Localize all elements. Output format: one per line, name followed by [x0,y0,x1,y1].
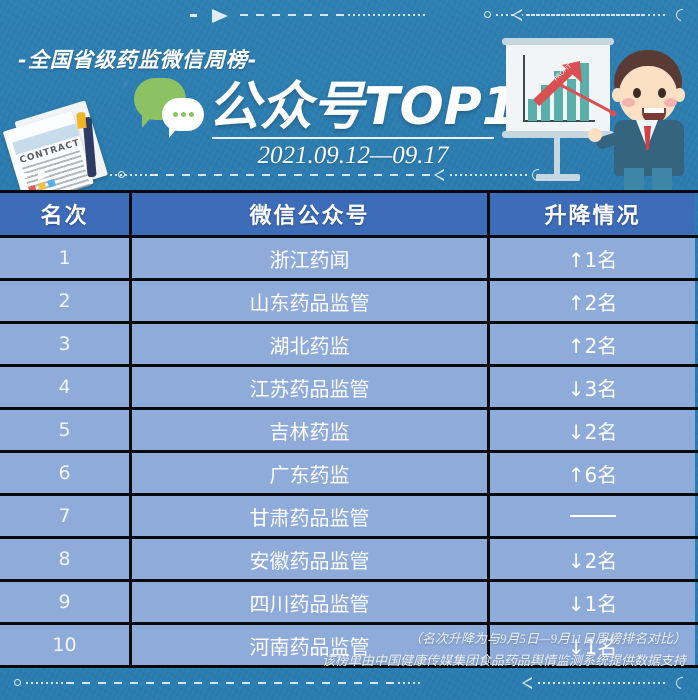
circle-marker-icon [14,679,21,686]
dotted-segment-3 [528,14,668,16]
character-cheek-left [622,98,635,107]
character-eye-right [658,88,666,98]
table-row[interactable]: 4 江苏药品监管 ↓3名 [0,367,698,410]
cell-rank: 7 [0,496,132,536]
swirl-icon [674,675,691,692]
footer-note: （名次升降为与9月5日—9月11日周榜排名对比） [409,628,686,647]
ranking-table: 名次 微信公众号 升降情况 1 浙江药闻 ↑1名 2 山东药品监管 ↑2名 3 … [0,190,698,668]
cell-change: ↓2名 [490,539,695,579]
flat-dash-icon [570,515,616,518]
cell-account: 浙江药闻 [132,238,490,278]
dashed-segment [150,174,430,176]
character-cheek-right [664,98,677,107]
dashed-segment [66,682,396,684]
cell-change: ↑6名 [490,453,695,493]
cell-rank: 3 [0,324,132,364]
chat-bubble-icon [134,78,208,136]
banner-subtitle: -全国省级药监微信周榜- [18,44,257,74]
circle-marker-icon [484,11,491,18]
hollow-triangle-left-icon [522,677,532,689]
title-row: 公众号TOP10 [134,78,554,136]
play-triangle-icon [212,9,228,23]
bottom-decoration-line [0,676,698,690]
cell-account: 甘肃药品监管 [132,496,490,536]
header-banner: -全国省级药监微信周榜- 公众号TOP10 2021.09.12—09.17 C… [0,0,698,190]
hollow-triangle-left-icon [512,9,522,21]
table-row[interactable]: 5 吉林药监 ↓2名 [0,410,698,453]
board-base [536,174,580,181]
table-row[interactable]: 7 甘肃药品监管 [0,496,698,539]
cell-account: 吉林药监 [132,410,490,450]
table-row[interactable]: 6 广东药监 ↑6名 [0,453,698,496]
title-underline [212,137,494,139]
cell-rank: 6 [0,453,132,493]
footer-source: 该榜单由中国健康传媒集团食品药品舆情监测系统提供数据支持 [322,650,686,669]
bubble-dot-icon [173,112,178,117]
cell-account: 安徽药品监管 [132,539,490,579]
table-row[interactable]: 1 浙江药闻 ↑1名 [0,238,698,281]
presenter-character-illustration [600,50,698,190]
cell-rank: 9 [0,582,132,622]
date-range: 2021.09.12—09.17 [212,142,494,170]
cell-account: 山东药品监管 [132,281,490,321]
dash-tick-icon [190,14,197,17]
top-decoration-line [0,8,698,22]
dotted-segment [348,14,426,16]
footer: （名次升降为与9月5日—9月11日周榜排名对比） 该榜单由中国健康传媒集团食品药… [0,620,698,700]
table-row[interactable]: 9 四川药品监管 ↓1名 [0,582,698,625]
table-row[interactable]: 2 山东药品监管 ↑2名 [0,281,698,324]
character-hand [588,128,602,142]
cell-rank: 5 [0,410,132,450]
dashed-segment [240,14,345,16]
board-top-bar [502,38,614,45]
presentation-board-illustration: PROFIT [502,38,614,188]
cell-account: 广东药监 [132,453,490,493]
table-row[interactable]: 3 湖北药监 ↑2名 [0,324,698,367]
cell-change: ↓1名 [490,582,695,622]
dotted-segment [398,682,420,684]
poster-canvas: -全国省级药监微信周榜- 公众号TOP10 2021.09.12—09.17 C… [0,0,698,700]
cell-rank: 8 [0,539,132,579]
swirl-icon [674,7,691,24]
cell-change: ↑1名 [490,238,695,278]
column-header-account: 微信公众号 [132,193,490,235]
column-header-rank: 名次 [0,193,132,235]
cell-account: 湖北药监 [132,324,490,364]
chat-bubble-white-icon [162,98,204,131]
cell-change: ↑2名 [490,281,695,321]
hollow-triangle-left-icon [434,169,444,181]
cell-change: ↓2名 [490,410,695,450]
contract-document-illustration: CONTRACT [0,88,136,205]
board-pole [554,138,560,176]
cell-change-flat [490,496,695,536]
dotted-segment [538,682,668,684]
chart-y-axis [523,55,525,121]
cell-change: ↓3名 [490,367,695,407]
cell-rank: 2 [0,281,132,321]
board-face: PROFIT [506,45,610,131]
cell-change: ↑2名 [490,324,695,364]
dotted-segment [26,682,66,684]
table-row[interactable]: 8 安徽药品监管 ↓2名 [0,539,698,582]
cell-rank: 4 [0,367,132,407]
character-eye-left [633,88,641,98]
pen-cap-icon [76,112,86,129]
table-header-row: 名次 微信公众号 升降情况 [0,190,698,238]
cell-account: 江苏药品监管 [132,367,490,407]
cell-account: 四川药品监管 [132,582,490,622]
column-header-change: 升降情况 [490,193,695,235]
dotted-segment-2 [496,14,646,16]
cell-rank: 1 [0,238,132,278]
bubble-dot-icon [189,112,194,117]
bubble-dot-icon [181,112,186,117]
